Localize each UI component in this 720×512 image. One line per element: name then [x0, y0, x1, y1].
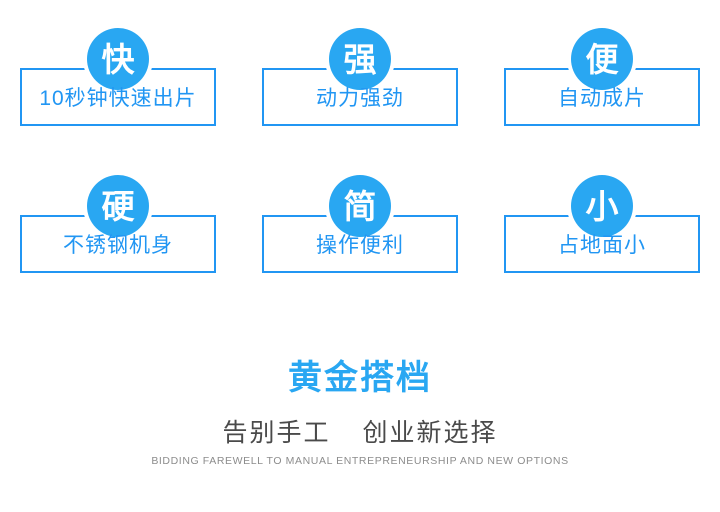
golden-english-line: BIDDING FAREWELL TO MANUAL ENTREPRENEURS…	[0, 455, 720, 467]
feature-card-4[interactable]: 硬 不锈钢机身	[20, 215, 216, 273]
golden-subtitle-right: 创业新选择	[362, 419, 497, 447]
feature-label-5: 操作便利	[264, 217, 456, 271]
feature-card-6[interactable]: 小 占地面小	[504, 215, 700, 273]
feature-label-4: 不锈钢机身	[22, 217, 214, 271]
golden-partner-section: 黄金搭档 告别手工 创业新选择 BIDDING FAREWELL TO MANU…	[0, 360, 720, 467]
feature-card-1[interactable]: 快 10秒钟快速出片	[20, 68, 216, 126]
feature-card-3[interactable]: 便 自动成片	[504, 68, 700, 126]
golden-subtitle-left: 告别手工	[223, 419, 331, 447]
golden-subtitle: 告别手工 创业新选择	[0, 413, 720, 449]
feature-card-2[interactable]: 强 动力强劲	[262, 68, 458, 126]
feature-card-5[interactable]: 简 操作便利	[262, 215, 458, 273]
feature-grid: 快 10秒钟快速出片 强 动力强劲 便 自动成片 硬 不锈钢机身 简 操作便利 …	[0, 0, 720, 300]
feature-label-1: 10秒钟快速出片	[22, 70, 214, 124]
feature-label-6: 占地面小	[506, 217, 698, 271]
feature-label-3: 自动成片	[506, 70, 698, 124]
feature-label-2: 动力强劲	[264, 70, 456, 124]
golden-title: 黄金搭档	[0, 360, 720, 397]
